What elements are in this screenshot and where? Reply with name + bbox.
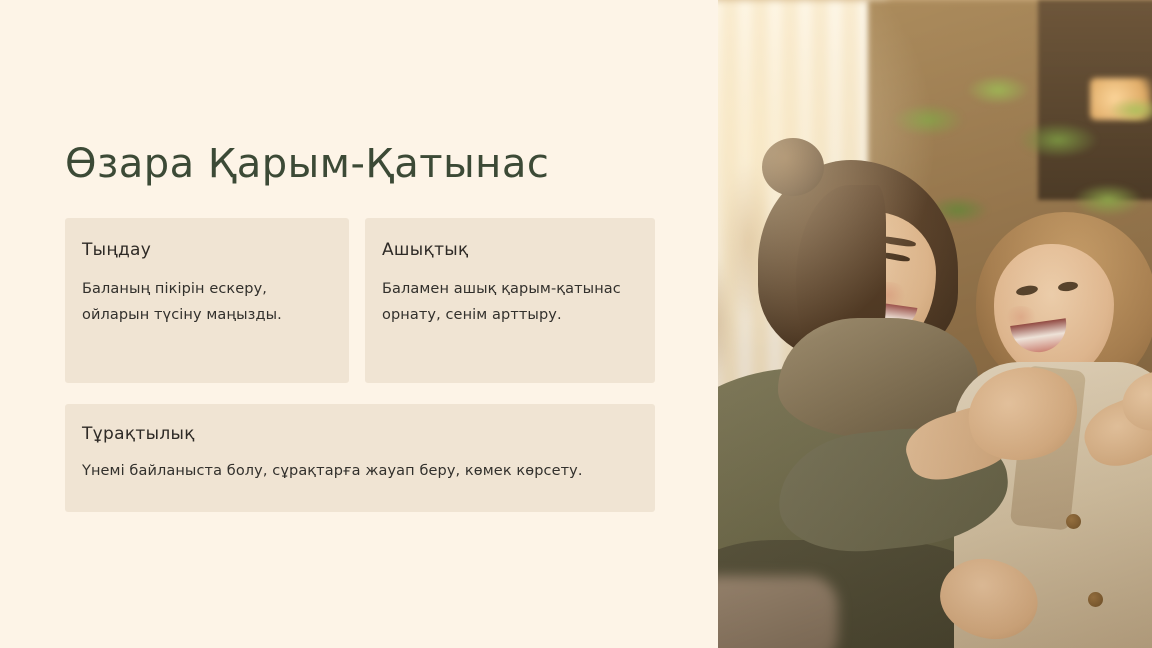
card-heading: Ашықтық	[382, 240, 639, 261]
card-inner: Тыңдау Баланың пікірін ескеру, ойларын т…	[82, 240, 333, 329]
woman-hair-bun	[762, 138, 824, 196]
card-body: Баламен ашық қарым-қатынас орнату, сенім…	[382, 277, 639, 329]
card-body: Баланың пікірін ескеру, ойларын түсіну м…	[82, 277, 333, 329]
mother-and-child-photo	[718, 0, 1152, 648]
card-body: Үнемі байланыста болу, сұрақтарға жауап …	[82, 461, 639, 481]
card-turaqtylyq[interactable]: Тұрақтылық Үнемі байланыста болу, сұрақт…	[65, 404, 655, 512]
child-coat-button	[1066, 514, 1081, 529]
slide: Өзара Қарым-Қатынас Тыңдау Баланың пікір…	[0, 0, 1152, 648]
card-heading: Тұрақтылық	[82, 424, 639, 445]
page-title: Өзара Қарым-Қатынас	[65, 140, 549, 188]
content-column: Өзара Қарым-Қатынас Тыңдау Баланың пікір…	[0, 0, 718, 648]
card-inner: Ашықтық Баламен ашық қарым-қатынас орнат…	[382, 240, 639, 329]
card-inner: Тұрақтылық Үнемі байланыста болу, сұрақт…	[82, 424, 639, 482]
child-coat-button	[1088, 592, 1103, 607]
card-tyndau[interactable]: Тыңдау Баланың пікірін ескеру, ойларын т…	[65, 218, 349, 383]
card-heading: Тыңдау	[82, 240, 333, 261]
couch-cushion	[718, 576, 838, 648]
card-ashyqtyq[interactable]: Ашықтық Баламен ашық қарым-қатынас орнат…	[365, 218, 655, 383]
